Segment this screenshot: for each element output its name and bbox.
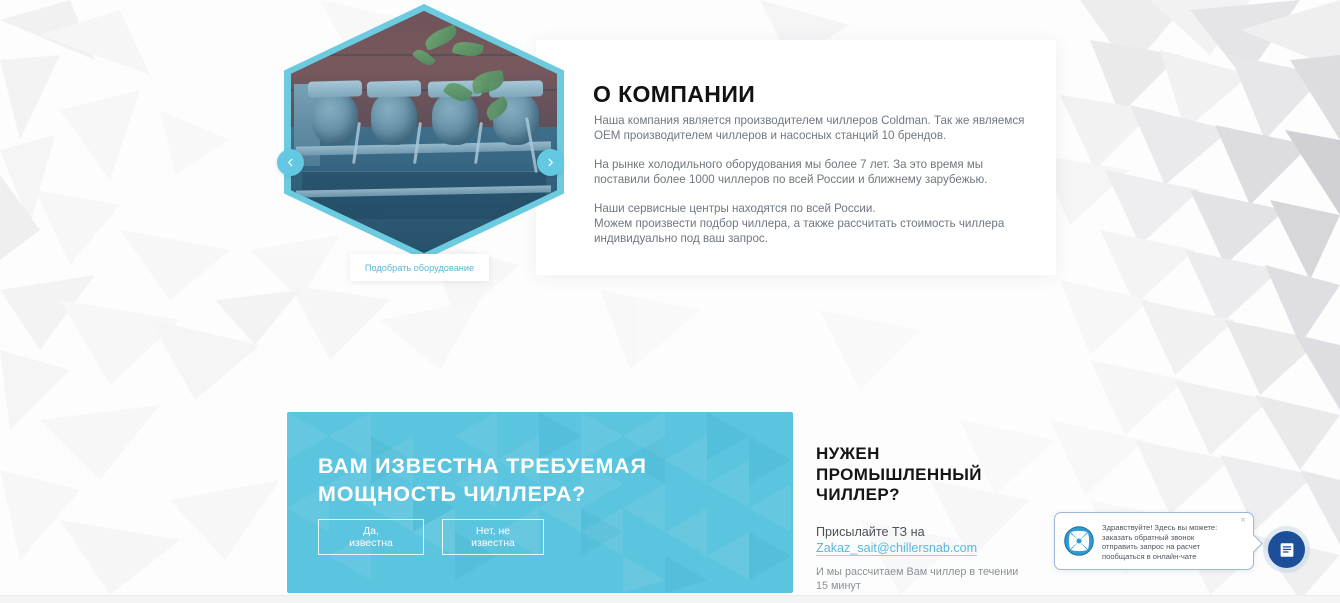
answer-yes-button[interactable]: Да, известна [318,519,424,555]
chat-greeting-text: Здравствуйте! Здесь вы можете: заказать … [1102,523,1242,561]
chiller-photo [291,11,557,253]
about-paragraph-1: Наша компания является производителем чи… [594,113,1034,144]
about-company-card: О КОМПАНИИ Наша компания является произв… [536,40,1056,275]
chat-option-2: отправить запрос на расчет [1102,542,1200,551]
contact-block: НУЖЕН ПРОМЫШЛЕННЫЙ ЧИЛЛЕР? Присылайте ТЗ… [816,444,1046,594]
product-image-slider [284,4,564,260]
about-company-text: Наша компания является производителем чи… [594,113,1034,247]
chat-greeting-bubble: × Здравствуйте! Здесь вы можете: заказат… [1054,512,1254,570]
known-power-heading-line-2: МОЩНОСТЬ ЧИЛЛЕРА? [318,482,586,506]
contact-note: И мы рассчитаем Вам чиллер в течении 15 … [816,565,1044,594]
contact-heading-line-1: НУЖЕН [816,444,880,463]
contact-email-link[interactable]: Zakaz_sait@chillersnab.com [816,541,977,556]
hexagon-image-mask [291,11,557,253]
contact-note-line-2: 15 минут [816,580,861,592]
chevron-left-icon [285,157,296,168]
about-paragraph-3-line-2: Можем произвести подбор чиллера, а также… [594,217,1004,245]
known-power-heading-line-1: ВАМ ИЗВЕСТНА ТРЕБУЕМАЯ [318,454,647,478]
chat-greeting-line: Здравствуйте! Здесь вы можете: [1102,523,1217,532]
about-paragraph-3-line-1: Наши сервисные центры находятся по всей … [594,202,876,215]
known-power-panel: ВАМ ИЗВЕСТНА ТРЕБУЕМАЯ МОЩНОСТЬ ЧИЛЛЕРА?… [287,412,793,593]
chat-message-icon [1278,541,1296,559]
select-equipment-button[interactable]: Подобрать оборудование [350,254,489,281]
contact-heading-line-3: ЧИЛЛЕР? [816,485,900,504]
about-paragraph-2: На рынке холодильного оборудования мы бо… [594,157,1034,188]
page-root: О КОМПАНИИ Наша компания является произв… [0,0,1340,603]
slider-next-button[interactable] [537,149,564,176]
chat-option-1: заказать обратный звонок [1102,533,1194,542]
contact-subtitle: Присылайте ТЗ на [816,525,1046,539]
chat-option-3: пообщаться в онлайн-чате [1102,552,1196,561]
about-paragraph-3: Наши сервисные центры находятся по всей … [594,201,1034,247]
known-power-choices: Да, известна Нет, не известна [318,519,544,555]
slider-prev-button[interactable] [277,149,304,176]
page-title: О КОМПАНИИ [593,81,755,108]
hexagon-frame [284,4,564,260]
contact-heading: НУЖЕН ПРОМЫШЛЕННЫЙ ЧИЛЛЕР? [816,444,1046,506]
chat-avatar-icon [1064,526,1094,556]
chat-launcher-button[interactable] [1268,531,1305,568]
page-bottom-strip [0,595,1340,603]
chevron-right-icon [545,157,556,168]
contact-heading-line-2: ПРОМЫШЛЕННЫЙ [816,465,982,484]
contact-note-line-1: И мы рассчитаем Вам чиллер в течении [816,566,1018,578]
known-power-heading: ВАМ ИЗВЕСТНА ТРЕБУЕМАЯ МОЩНОСТЬ ЧИЛЛЕРА? [318,452,738,508]
answer-no-button[interactable]: Нет, не известна [442,519,544,555]
